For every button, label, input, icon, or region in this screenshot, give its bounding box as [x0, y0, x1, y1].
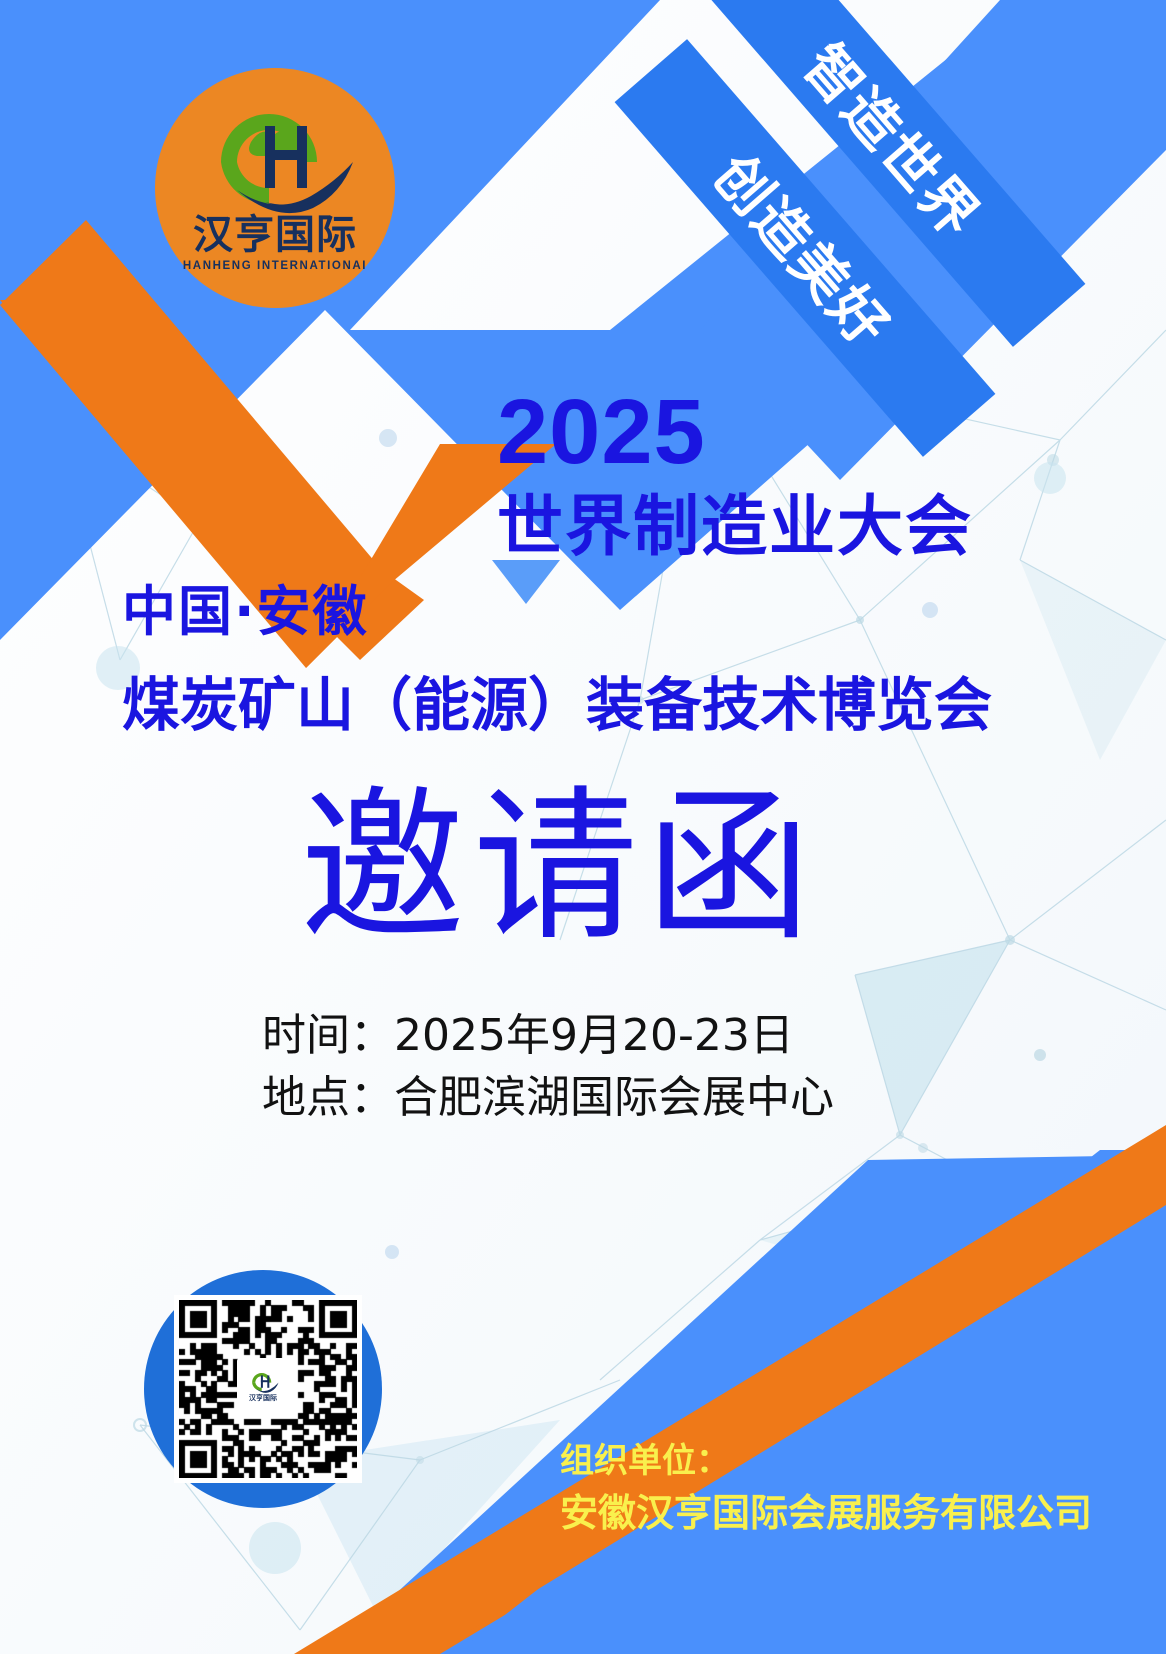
- logo-name-en: HANHENG INTERNATIONAI: [183, 260, 367, 272]
- qr-center-logo: 汉亨国际: [237, 1358, 289, 1410]
- qr-logo-label: 汉亨国际: [249, 1395, 277, 1402]
- small-blue-tick: [492, 560, 560, 604]
- qr-logo-mark: [246, 1367, 280, 1394]
- headline-year: 2025: [497, 386, 706, 478]
- event-info: 时间：2025年9月20-23日 地点：合肥滨湖国际会展中心: [262, 1005, 834, 1130]
- organizer-label: 组织单位：: [560, 1437, 1092, 1486]
- poster-canvas: 汉亨国际 HANHENG INTERNATIONAI 智造世界 创造美好 202…: [0, 0, 1166, 1654]
- headline-theme: 煤炭矿山（能源）装备技术博览会: [122, 676, 992, 734]
- logo-name-cn: 汉亨国际: [193, 215, 357, 255]
- organizer-block: 组织单位： 安徽汉亨国际会展服务有限公司: [560, 1437, 1092, 1541]
- hanheng-logo-mark: [193, 84, 358, 219]
- company-logo: 汉亨国际 HANHENG INTERNATIONAI: [155, 68, 395, 308]
- event-time: 时间：2025年9月20-23日: [262, 1005, 834, 1067]
- headline-invitation: 邀请函: [300, 785, 819, 950]
- headline-conference: 世界制造业大会: [497, 494, 973, 560]
- event-place: 地点：合肥滨湖国际会展中心: [262, 1067, 834, 1129]
- organizer-name: 安徽汉亨国际会展服务有限公司: [560, 1486, 1092, 1541]
- headline-region: 中国·安徽: [122, 585, 369, 639]
